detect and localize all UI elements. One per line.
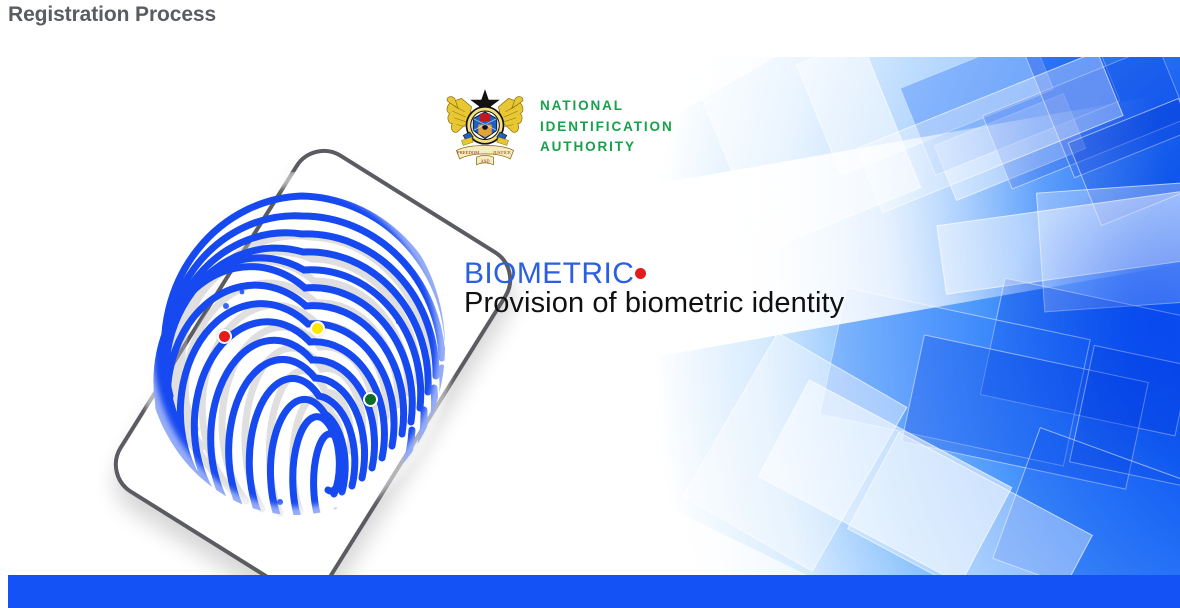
red-dot-icon <box>635 268 646 279</box>
biometric-headline: BIOMETRIC Provision of biometric identit… <box>464 257 844 320</box>
svg-text:JUSTICE: JUSTICE <box>493 150 511 155</box>
fingerprint-icon <box>130 172 460 522</box>
wordmark-line-2: IDENTIFICATION <box>540 117 674 138</box>
svg-text:AND: AND <box>480 158 489 163</box>
biometric-subtitle: Provision of biometric identity <box>464 287 844 320</box>
ghana-coat-of-arms-icon: FREEDOM JUSTICE AND <box>442 85 528 169</box>
marker-green-dot <box>363 392 378 407</box>
biometric-title: BIOMETRIC <box>464 257 634 291</box>
marker-yellow-dot <box>310 321 325 336</box>
registration-banner: FREEDOM JUSTICE AND NATIONAL IDENTIFICAT… <box>0 57 1180 575</box>
wordmark-line-1: NATIONAL <box>540 96 674 117</box>
nia-logo-row: FREEDOM JUSTICE AND NATIONAL IDENTIFICAT… <box>442 85 674 169</box>
biometric-title-row: BIOMETRIC <box>464 257 844 291</box>
nia-wordmark: NATIONAL IDENTIFICATION AUTHORITY <box>540 96 674 159</box>
footer-bar <box>8 575 1180 608</box>
page-title: Registration Process <box>8 3 216 27</box>
wordmark-line-3: AUTHORITY <box>540 137 674 158</box>
marker-red-dot <box>217 329 232 344</box>
svg-text:FREEDOM: FREEDOM <box>457 150 479 155</box>
nia-identity-block: FREEDOM JUSTICE AND NATIONAL IDENTIFICAT… <box>442 85 674 169</box>
